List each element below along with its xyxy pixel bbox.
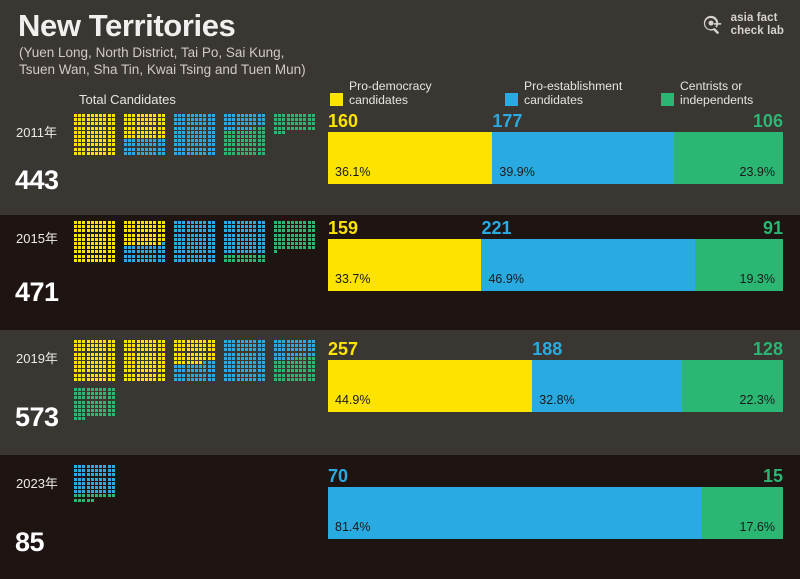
candidate-dot [262, 238, 265, 241]
candidate-dot [253, 361, 256, 364]
candidate-dot [128, 374, 131, 377]
candidate-dot [162, 135, 165, 138]
candidate-dot [124, 139, 127, 142]
candidate-dot [132, 378, 135, 381]
candidate-dot [153, 374, 156, 377]
candidate-dot [128, 118, 131, 121]
candidate-dot [162, 229, 165, 232]
candidate-dot [224, 234, 227, 237]
candidate-dot [199, 378, 202, 381]
candidate-dot [195, 344, 198, 347]
candidate-dot [228, 246, 231, 249]
candidate-dot [82, 238, 85, 241]
candidate-dot [282, 234, 285, 237]
candidate-dot [99, 482, 102, 485]
candidate-dot [212, 374, 215, 377]
candidate-dot [308, 246, 311, 249]
candidate-dot [162, 361, 165, 364]
candidate-dot [278, 114, 281, 117]
candidate-dot [187, 114, 190, 117]
candidate-dot [282, 357, 285, 360]
candidate-dot [195, 255, 198, 258]
candidate-dot [108, 482, 111, 485]
candidate-dot [153, 234, 156, 237]
candidate-dot [303, 242, 306, 245]
candidate-dot [103, 473, 106, 476]
candidate-dot [74, 369, 77, 372]
candidate-dot [178, 114, 181, 117]
candidate-dot [82, 229, 85, 232]
candidate-dot [145, 344, 148, 347]
candidate-dot [308, 229, 311, 232]
candidate-dot [162, 365, 165, 368]
candidate-dot [228, 250, 231, 253]
candidate-dot [295, 378, 298, 381]
candidate-dot [95, 152, 98, 155]
candidate-dot [174, 152, 177, 155]
candidate-dot [74, 234, 77, 237]
candidate-dot [149, 221, 152, 224]
candidate-dot [228, 344, 231, 347]
candidate-dot [87, 229, 90, 232]
candidate-dot [278, 127, 281, 130]
candidate-dot [303, 114, 306, 117]
candidate-dot [108, 114, 111, 117]
candidate-dot [141, 139, 144, 142]
year-row-2011年: 2011年44316036.1%17739.9%10623.9% [0, 110, 800, 215]
candidate-dot [149, 229, 152, 232]
candidate-dot [74, 255, 77, 258]
candidate-dot [141, 242, 144, 245]
candidate-dot [291, 357, 294, 360]
candidate-dot [212, 378, 215, 381]
candidate-dot [249, 242, 252, 245]
candidate-dot [95, 409, 98, 412]
candidate-dot [82, 234, 85, 237]
candidate-dot [158, 234, 161, 237]
candidate-dot [99, 494, 102, 497]
candidate-dot [174, 353, 177, 356]
candidate-dot [249, 127, 252, 130]
candidate-dot [237, 114, 240, 117]
candidate-dot [74, 143, 77, 146]
candidate-dot [199, 357, 202, 360]
candidate-dot [295, 348, 298, 351]
candidate-dot [145, 135, 148, 138]
candidate-dot [145, 143, 148, 146]
candidate-dot [287, 242, 290, 245]
bar-segment-prodem[interactable]: 16036.1% [328, 132, 492, 184]
bar-segment-proest[interactable]: 17739.9% [492, 132, 674, 184]
candidate-dot [74, 490, 77, 493]
candidate-dot [74, 392, 77, 395]
brand-logo: asia fact check lab [701, 12, 784, 37]
candidate-dot [95, 365, 98, 368]
candidate-dot [137, 353, 140, 356]
candidate-dot [95, 234, 98, 237]
candidate-dot [99, 259, 102, 262]
candidate-dot [124, 143, 127, 146]
candidate-dot [187, 365, 190, 368]
bar-segment-centrist[interactable]: 9119.3% [695, 239, 783, 291]
candidate-dot [137, 374, 140, 377]
candidate-dot [103, 409, 106, 412]
candidate-dot [278, 229, 281, 232]
candidate-dot [203, 246, 206, 249]
candidate-dot [103, 353, 106, 356]
candidate-dot [141, 221, 144, 224]
candidate-dot [162, 259, 165, 262]
candidate-dot [191, 234, 194, 237]
bar-segment-centrist[interactable]: 10623.9% [674, 132, 783, 184]
candidate-dot [187, 139, 190, 142]
candidate-dot [153, 246, 156, 249]
candidate-dot [253, 229, 256, 232]
candidate-dot [78, 238, 81, 241]
candidate-dot [87, 127, 90, 130]
candidate-dot [141, 369, 144, 372]
candidate-dot [224, 250, 227, 253]
candidate-dot [262, 122, 265, 125]
candidate-dot [141, 255, 144, 258]
bar-segment-proest[interactable]: 18832.8% [532, 360, 681, 412]
candidate-dot [195, 353, 198, 356]
candidate-dot [174, 234, 177, 237]
candidate-dot [141, 365, 144, 368]
candidate-dot [178, 344, 181, 347]
candidate-dot [191, 148, 194, 151]
candidate-dot [112, 357, 115, 360]
candidate-dot [241, 344, 244, 347]
candidate-dot [178, 374, 181, 377]
candidate-dot [91, 486, 94, 489]
candidate-dot [278, 242, 281, 245]
candidate-dot [158, 131, 161, 134]
candidate-dot [199, 353, 202, 356]
candidate-dot [212, 357, 215, 360]
candidate-dot [95, 353, 98, 356]
candidate-dot [141, 122, 144, 125]
candidate-dot [87, 353, 90, 356]
candidate-dot [199, 114, 202, 117]
candidate-dot [274, 242, 277, 245]
candidate-dot [162, 250, 165, 253]
candidate-dot [141, 361, 144, 364]
candidate-dot [178, 242, 181, 245]
candidate-dot [91, 225, 94, 228]
candidate-dot [287, 234, 290, 237]
candidate-dot [91, 469, 94, 472]
candidate-dot [291, 122, 294, 125]
candidate-dot [232, 242, 235, 245]
stacked-bar: 16036.1%17739.9%10623.9% [328, 132, 783, 184]
candidate-dot [87, 234, 90, 237]
candidate-dot [91, 122, 94, 125]
candidate-dot [228, 114, 231, 117]
candidate-dot [228, 353, 231, 356]
candidate-dot [95, 344, 98, 347]
candidate-dot [291, 365, 294, 368]
candidate-dot [112, 259, 115, 262]
candidate-dot [95, 469, 98, 472]
bar-segment-prodem[interactable]: 15933.7% [328, 239, 481, 291]
candidate-dot [132, 246, 135, 249]
candidate-dot [224, 348, 227, 351]
candidate-dot [253, 348, 256, 351]
candidate-dot [132, 122, 135, 125]
candidate-dot [153, 242, 156, 245]
candidate-dot [282, 340, 285, 343]
candidate-dot [95, 135, 98, 138]
candidate-dot [299, 369, 302, 372]
candidate-dot [262, 250, 265, 253]
candidate-dot [258, 378, 261, 381]
candidate-dot [203, 238, 206, 241]
candidate-dot [158, 139, 161, 142]
candidate-dot [108, 148, 111, 151]
candidate-dot [287, 114, 290, 117]
candidate-dot [287, 348, 290, 351]
candidate-dot [82, 499, 85, 502]
candidate-dot [295, 229, 298, 232]
candidate-dot [308, 361, 311, 364]
candidate-dot [237, 344, 240, 347]
candidate-dot [291, 118, 294, 121]
candidate-dot [112, 242, 115, 245]
candidate-dot [74, 486, 77, 489]
candidate-dot [237, 357, 240, 360]
bar-segment-centrist[interactable]: 1517.6% [702, 487, 783, 539]
candidate-dot [232, 118, 235, 121]
candidate-dot [228, 242, 231, 245]
bar-segment-proest[interactable]: 7081.4% [328, 487, 702, 539]
candidate-dot [195, 357, 198, 360]
candidate-dot [112, 473, 115, 476]
candidate-dot [108, 143, 111, 146]
candidate-dot [145, 148, 148, 151]
candidate-dot [82, 122, 85, 125]
candidate-dot [241, 118, 244, 121]
candidate-dot [208, 229, 211, 232]
candidate-dot [82, 392, 85, 395]
candidate-dot [103, 139, 106, 142]
candidate-dot [253, 344, 256, 347]
candidate-dot [132, 357, 135, 360]
candidate-dot [212, 255, 215, 258]
candidate-dot [274, 365, 277, 368]
candidate-dot [241, 369, 244, 372]
candidate-dot [299, 225, 302, 228]
candidate-dot [228, 348, 231, 351]
candidate-dot [162, 139, 165, 142]
candidate-dot [245, 118, 248, 121]
candidate-dot [158, 246, 161, 249]
candidate-dot [278, 234, 281, 237]
legend-swatch-0 [330, 93, 343, 106]
candidate-dot [91, 365, 94, 368]
candidate-dot [249, 255, 252, 258]
candidate-dot [245, 221, 248, 224]
candidate-dot [278, 348, 281, 351]
candidate-dot [282, 225, 285, 228]
candidate-dot [87, 409, 90, 412]
candidate-dot [82, 135, 85, 138]
candidate-dot [74, 413, 77, 416]
candidate-dot [203, 357, 206, 360]
candidate-dot [203, 340, 206, 343]
candidate-dot [162, 242, 165, 245]
candidate-dot [103, 486, 106, 489]
candidate-dot [137, 152, 140, 155]
candidate-dot [124, 378, 127, 381]
segment-count-centrist: 15 [763, 467, 783, 485]
candidate-dot [78, 221, 81, 224]
candidate-dot [208, 238, 211, 241]
candidate-dot [241, 234, 244, 237]
candidate-dot [241, 374, 244, 377]
candidate-dot [99, 114, 102, 117]
candidate-dot [228, 369, 231, 372]
candidate-dot [87, 348, 90, 351]
candidate-dot [249, 221, 252, 224]
candidate-dot [99, 486, 102, 489]
candidate-dot [132, 340, 135, 343]
candidate-dot [174, 361, 177, 364]
candidate-dot [145, 259, 148, 262]
candidate-dot [132, 259, 135, 262]
candidate-dot [141, 114, 144, 117]
candidate-dot [158, 344, 161, 347]
candidate-dot [187, 225, 190, 228]
candidate-dot [108, 494, 111, 497]
candidate-dot [253, 148, 256, 151]
candidate-dot [78, 417, 81, 420]
bar-segment-prodem[interactable]: 25744.9% [328, 360, 532, 412]
candidate-dot [203, 369, 206, 372]
candidate-dot [237, 250, 240, 253]
candidate-dot [149, 259, 152, 262]
candidate-dot [78, 486, 81, 489]
candidate-dot [74, 409, 77, 412]
candidate-dot [99, 378, 102, 381]
candidate-dot [95, 478, 98, 481]
candidate-dot [232, 122, 235, 125]
candidate-dot [174, 259, 177, 262]
bar-segment-centrist[interactable]: 12822.3% [682, 360, 783, 412]
candidate-dot [74, 139, 77, 142]
candidate-dot [78, 131, 81, 134]
candidate-dot [262, 344, 265, 347]
candidate-dot [208, 143, 211, 146]
candidate-dot [103, 135, 106, 138]
candidate-dot [291, 378, 294, 381]
candidate-dot [303, 225, 306, 228]
candidate-dot [258, 148, 261, 151]
candidate-dot [137, 242, 140, 245]
candidate-dot [145, 255, 148, 258]
candidate-dot [278, 378, 281, 381]
candidate-dot [199, 340, 202, 343]
candidate-dot [78, 405, 81, 408]
candidate-dot [253, 143, 256, 146]
candidate-dot [224, 344, 227, 347]
candidate-dot [308, 234, 311, 237]
candidate-dot [82, 139, 85, 142]
candidate-dot [112, 369, 115, 372]
candidate-dot [141, 135, 144, 138]
candidate-dot [128, 221, 131, 224]
candidate-dot [212, 152, 215, 155]
candidate-dot [203, 361, 206, 364]
candidate-dot [153, 229, 156, 232]
candidate-dot [82, 344, 85, 347]
candidate-dot [128, 255, 131, 258]
candidate-dot [208, 127, 211, 130]
candidate-dot [145, 118, 148, 121]
candidate-dot [95, 401, 98, 404]
candidate-dot [103, 465, 106, 468]
candidate-dot [149, 255, 152, 258]
candidate-dot [203, 118, 206, 121]
candidate-dot [87, 122, 90, 125]
candidate-dot [112, 246, 115, 249]
candidate-dot [174, 122, 177, 125]
bar-segment-proest[interactable]: 22146.9% [481, 239, 695, 291]
candidate-dot [303, 122, 306, 125]
candidate-dot [74, 473, 77, 476]
candidate-dot [99, 465, 102, 468]
candidate-dot [87, 494, 90, 497]
candidate-dot [82, 405, 85, 408]
candidate-dot [162, 118, 165, 121]
candidate-dot [208, 255, 211, 258]
candidate-dot [74, 374, 77, 377]
candidate-dot [278, 369, 281, 372]
candidate-dot [224, 143, 227, 146]
candidate-dot [128, 357, 131, 360]
candidate-dot [158, 127, 161, 130]
candidate-dot [108, 490, 111, 493]
candidate-dot [224, 131, 227, 134]
candidate-dot [312, 365, 315, 368]
candidate-dot [87, 465, 90, 468]
candidate-dot [249, 229, 252, 232]
year-label: 2023年 [16, 473, 58, 492]
candidate-dot [299, 118, 302, 121]
candidate-dot [262, 242, 265, 245]
candidate-dot [208, 361, 211, 364]
candidate-dot [95, 465, 98, 468]
candidate-dot [208, 259, 211, 262]
candidate-dot [132, 131, 135, 134]
candidate-dot [224, 225, 227, 228]
candidate-dot [291, 225, 294, 228]
candidate-dot [253, 139, 256, 142]
candidate-dot [82, 255, 85, 258]
candidate-dot [258, 246, 261, 249]
candidate-dot [132, 139, 135, 142]
candidate-dot [295, 369, 298, 372]
candidate-dot [91, 409, 94, 412]
candidate-dot [208, 152, 211, 155]
candidate-dot [262, 357, 265, 360]
candidate-dot [212, 344, 215, 347]
candidate-dot [212, 122, 215, 125]
candidate-dot [274, 361, 277, 364]
candidate-dot [108, 409, 111, 412]
candidate-dot [282, 369, 285, 372]
candidate-dot [74, 225, 77, 228]
